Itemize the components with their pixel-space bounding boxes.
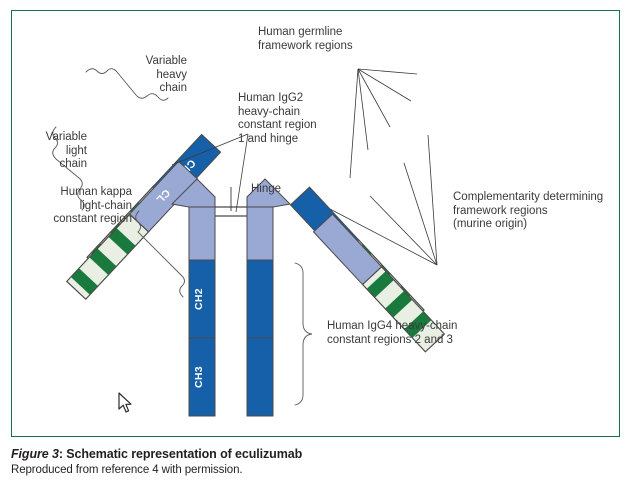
right-ch3-segment bbox=[247, 338, 273, 416]
figure-frame: CH1 CL bbox=[11, 10, 620, 437]
leader-cdr-3 bbox=[370, 196, 437, 265]
right-cl-segment bbox=[313, 214, 381, 284]
left-ch3-label: CH3 bbox=[193, 366, 205, 388]
leader-germline-2 bbox=[358, 69, 411, 101]
figure-title-text: : Schematic representation of eculizumab bbox=[59, 447, 302, 461]
label-human-igg2: Human IgG2heavy-chainconstant region1 an… bbox=[238, 92, 348, 146]
leader-cdr-1 bbox=[428, 135, 437, 265]
figure-caption-sub: Reproduced from reference 4 with permiss… bbox=[11, 464, 242, 476]
right-stem-lavender bbox=[247, 207, 273, 260]
right-ch2-segment bbox=[247, 260, 273, 338]
figure-caption-title: Figure 3: Schematic representation of ec… bbox=[11, 447, 302, 461]
label-human-kappa-constant: Human kappalight-chainconstant region bbox=[22, 186, 132, 227]
leader-cdr-2 bbox=[404, 163, 437, 265]
label-cdr-murine: Complementarity determiningframework reg… bbox=[453, 191, 628, 232]
figure-number: Figure 3 bbox=[11, 447, 59, 461]
leader-germline-5 bbox=[350, 69, 358, 178]
label-variable-heavy-chain: Variableheavychain bbox=[102, 55, 187, 96]
left-ch2-label: CH2 bbox=[193, 288, 205, 310]
left-light-chain-arm: CL bbox=[67, 161, 198, 299]
left-stem-lavender bbox=[189, 207, 215, 260]
leader-germline-3 bbox=[358, 69, 390, 127]
leader-germline-4 bbox=[358, 69, 368, 150]
label-human-igg4: Human IgG4 heavy-chainconstant regions 2… bbox=[327, 320, 517, 347]
label-human-germline: Human germlineframework regions bbox=[258, 26, 393, 53]
label-variable-light-chain: Variablelightchain bbox=[12, 131, 87, 172]
leader-germline-1 bbox=[358, 69, 417, 74]
brace-igg4 bbox=[295, 263, 312, 405]
label-hinge: Hinge bbox=[251, 183, 281, 197]
left-vl-base bbox=[67, 214, 149, 299]
